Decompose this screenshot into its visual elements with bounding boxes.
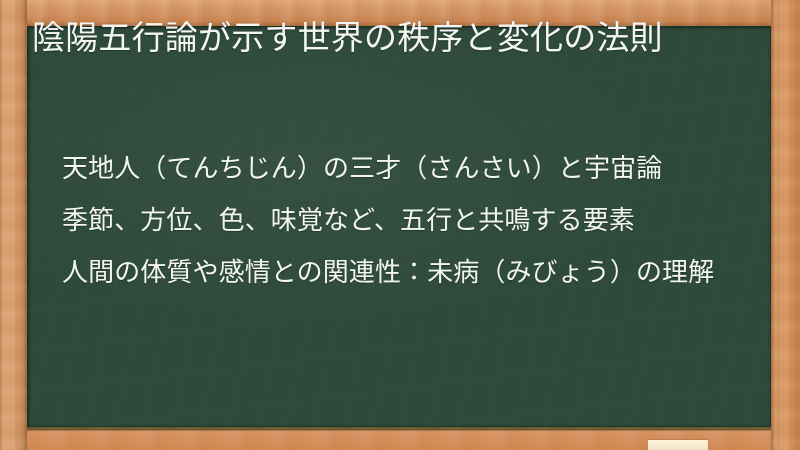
chalkboard-slide: 陰陽五行論が示す世界の秩序と変化の法則 天地人（てんちじん）の三才（さんさい）と… — [0, 0, 800, 450]
bullet-item: 人間の体質や感情との関連性：未病（みびょう）の理解 — [62, 256, 738, 291]
bullet-list: 天地人（てんちじん）の三才（さんさい）と宇宙論 季節、方位、色、味覚など、五行と… — [62, 152, 738, 290]
bullet-item: 季節、方位、色、味覚など、五行と共鳴する要素 — [62, 204, 738, 239]
slide-content: 陰陽五行論が示す世界の秩序と変化の法則 天地人（てんちじん）の三才（さんさい）と… — [0, 0, 800, 450]
chalk-stick-icon — [648, 440, 708, 450]
slide-title: 陰陽五行論が示す世界の秩序と変化の法則 — [32, 16, 744, 61]
bullet-item: 天地人（てんちじん）の三才（さんさい）と宇宙論 — [62, 152, 738, 187]
